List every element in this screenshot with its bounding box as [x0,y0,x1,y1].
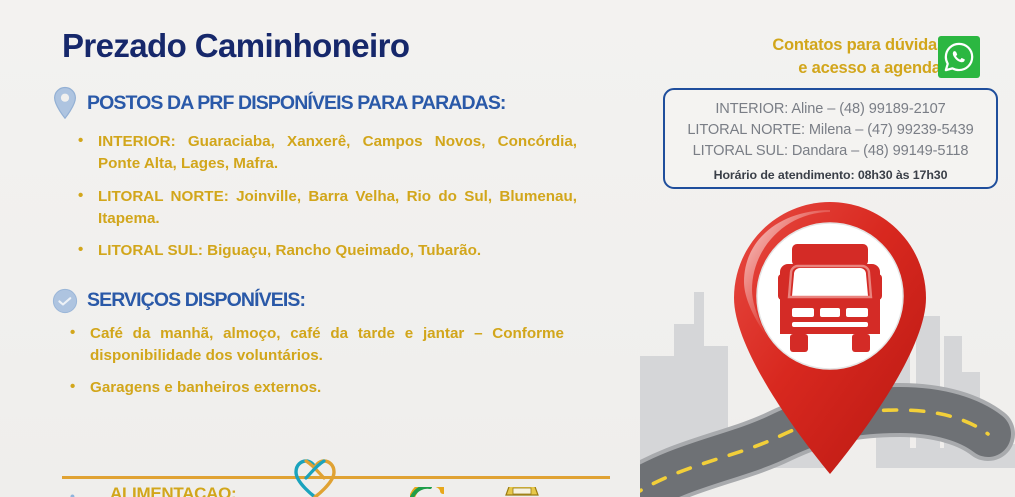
map-pin-icon [52,86,78,120]
contacts-box: INTERIOR: Aline – (48) 99189-2107 LITORA… [663,88,998,189]
bottom-partial-row: • ALIMENTAÇÃO: [62,487,622,497]
contact-line: LITORAL NORTE: Milena – (47) 99239-5439 [665,120,996,141]
partner-logo-icon [410,487,444,497]
section-postos-title: POSTOS DA PRF DISPONÍVEIS PARA PARADAS: [87,92,506,115]
list-item: INTERIOR: Guaraciaba, Xanxerê, Campos No… [72,131,577,174]
list-item: Garagens e banheiros externos. [64,377,564,399]
contact-hours: Horário de atendimento: 08h30 às 17h30 [665,168,996,182]
bottom-partial-label: ALIMENTAÇÃO: [110,487,236,497]
list-item: Café da manhã, almoço, café da tarde e j… [64,323,564,366]
contact-line: LITORAL SUL: Dandara – (48) 99149-5118 [665,141,996,162]
right-content-column: Contatos para dúvidas e acesso a agenda:… [640,0,1015,497]
truck-map-pin-illustration [640,196,1015,497]
page-title: Prezado Caminhoneiro [62,28,600,64]
section-postos: POSTOS DA PRF DISPONÍVEIS PARA PARADAS: … [62,86,600,262]
contacts-heading: Contatos para dúvidas e acesso a agenda: [656,34,946,80]
bottom-bullet-icon: • [70,488,75,497]
list-item: LITORAL NORTE: Joinville, Barra Velha, R… [72,186,577,229]
contacts-heading-line2: e acesso a agenda: [656,57,946,80]
contacts-heading-line1: Contatos para dúvidas [656,34,946,57]
slide-canvas: Prezado Caminhoneiro POSTOS DA PRF DISPO… [0,0,1015,497]
check-circle-icon [52,288,78,314]
left-content-column: Prezado Caminhoneiro POSTOS DA PRF DISPO… [0,0,640,497]
list-item: LITORAL SUL: Biguaçu, Rancho Queimado, T… [72,240,577,262]
section-postos-header: POSTOS DA PRF DISPONÍVEIS PARA PARADAS: [52,86,600,120]
section-servicos: SERVIÇOS DISPONÍVEIS: Café da manhã, alm… [62,288,600,399]
government-crest-icon [502,487,542,497]
whatsapp-icon[interactable] [938,36,980,78]
section-servicos-title: SERVIÇOS DISPONÍVEIS: [87,289,305,312]
contact-line: INTERIOR: Aline – (48) 99189-2107 [665,99,996,120]
servicos-list: Café da manhã, almoço, café da tarde e j… [64,323,600,399]
postos-list: INTERIOR: Guaraciaba, Xanxerê, Campos No… [72,131,600,262]
section-servicos-header: SERVIÇOS DISPONÍVEIS: [52,288,600,314]
